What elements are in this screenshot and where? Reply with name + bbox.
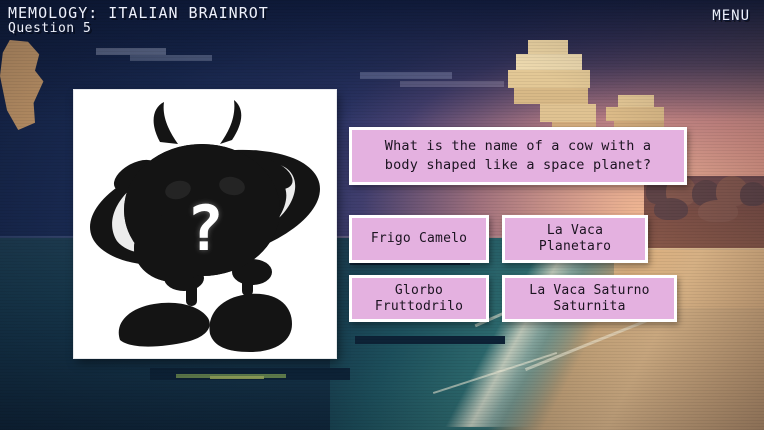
quiz-panel: What is the name of a cow with a body sh… bbox=[349, 127, 694, 185]
menu-button[interactable]: MENU bbox=[708, 6, 754, 26]
question-text: What is the name of a cow with a body sh… bbox=[385, 137, 652, 175]
hud-header: MEMOLOGY: ITALIAN BRAINROT Question 5 ME… bbox=[0, 0, 764, 40]
islet-mid-glow bbox=[210, 376, 264, 379]
game-screen: MEMOLOGY: ITALIAN BRAINROT Question 5 ME… bbox=[0, 0, 764, 430]
answer-row-top: Frigo Camelo La Vaca Planetaro bbox=[349, 215, 694, 263]
question-counter: Question 5 bbox=[8, 21, 91, 36]
page-title: MEMOLOGY: ITALIAN BRAINROT bbox=[8, 4, 269, 22]
answer-row-bottom: Glorbo Fruttodrilo La Vaca Saturno Satur… bbox=[349, 275, 694, 323]
answer-option-b[interactable]: La Vaca Planetaro bbox=[502, 215, 648, 263]
cloud-wisp-mid bbox=[360, 72, 510, 92]
answer-option-a[interactable]: Frigo Camelo bbox=[349, 215, 489, 263]
silhouette-card: ? bbox=[74, 90, 336, 358]
question-mark-overlay: ? bbox=[186, 198, 223, 260]
answer-option-c[interactable]: Glorbo Fruttodrilo bbox=[349, 275, 489, 323]
answer-grid: Frigo Camelo La Vaca Planetaro Glorbo Fr… bbox=[349, 215, 694, 334]
question-box: What is the name of a cow with a body sh… bbox=[349, 127, 687, 185]
islet-near bbox=[355, 336, 505, 344]
answer-option-d[interactable]: La Vaca Saturno Saturnita bbox=[502, 275, 677, 323]
cloud-wisp-left bbox=[96, 44, 216, 66]
